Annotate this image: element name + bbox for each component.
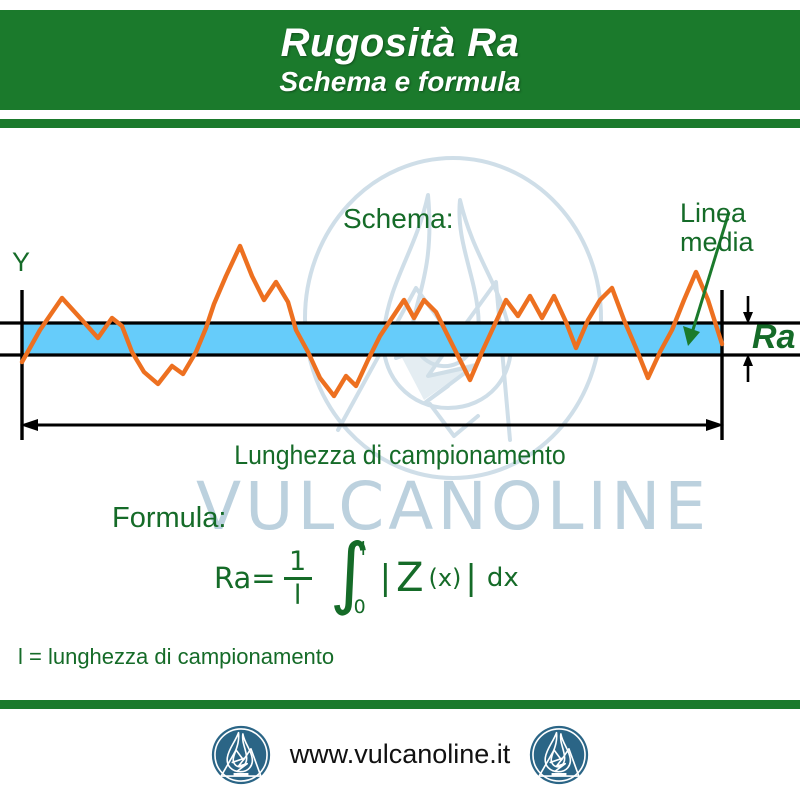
formula-argument: (x): [428, 564, 461, 592]
formula-dx: dx: [487, 563, 519, 593]
formula-abs-bar-left: |: [380, 558, 391, 598]
mean-line-label-line2: media: [680, 228, 754, 257]
roughness-profile-polyline: [22, 246, 722, 396]
page-root: Rugosità Ra Schema e formula: [0, 0, 800, 800]
header-band: Rugosità Ra Schema e formula: [0, 10, 800, 110]
formula-abs-bar-right: |: [465, 558, 476, 598]
website-url[interactable]: www.vulcanoline.it: [290, 739, 511, 770]
header-divider-rule: [0, 119, 800, 128]
formula-fraction: 1 l: [284, 548, 312, 609]
formula-label: Formula:: [112, 502, 226, 535]
formula-numerator: 1: [289, 548, 306, 577]
formula-integral-group: ∫ l 0: [328, 540, 374, 616]
formula-ra-lhs: Ra=: [214, 561, 276, 595]
formula-lower-limit: 0: [354, 596, 366, 618]
footer-divider-rule: [0, 700, 800, 709]
formula-z-symbol: Z: [396, 555, 423, 601]
formula-upper-limit: l: [361, 538, 366, 560]
page-subtitle: Schema e formula: [279, 67, 520, 98]
mean-line-label-line1: Linea: [680, 199, 754, 228]
mean-line-label: Linea media: [680, 199, 754, 257]
schema-section-label: Schema:: [343, 203, 454, 235]
page-title: Rugosità Ra: [281, 23, 520, 63]
vulcanoline-logo-left-icon: [210, 724, 272, 786]
sampling-length-label: Lunghezza di campionamento: [32, 440, 768, 471]
roughness-diagram: [0, 128, 800, 468]
watermark-text: VULCANOLINE: [196, 468, 676, 545]
formula-denominator: l: [294, 580, 302, 609]
y-axis-label: Y: [12, 247, 30, 278]
sampling-length-arrow: [20, 419, 724, 431]
ra-formula: Ra= 1 l ∫ l 0 | Z (x) | dx: [214, 540, 519, 616]
formula-note: l = lunghezza di campionamento: [18, 644, 334, 670]
vulcanoline-logo-right-icon: [528, 724, 590, 786]
ra-label: Ra: [752, 318, 795, 357]
footer-row: www.vulcanoline.it: [0, 709, 800, 800]
